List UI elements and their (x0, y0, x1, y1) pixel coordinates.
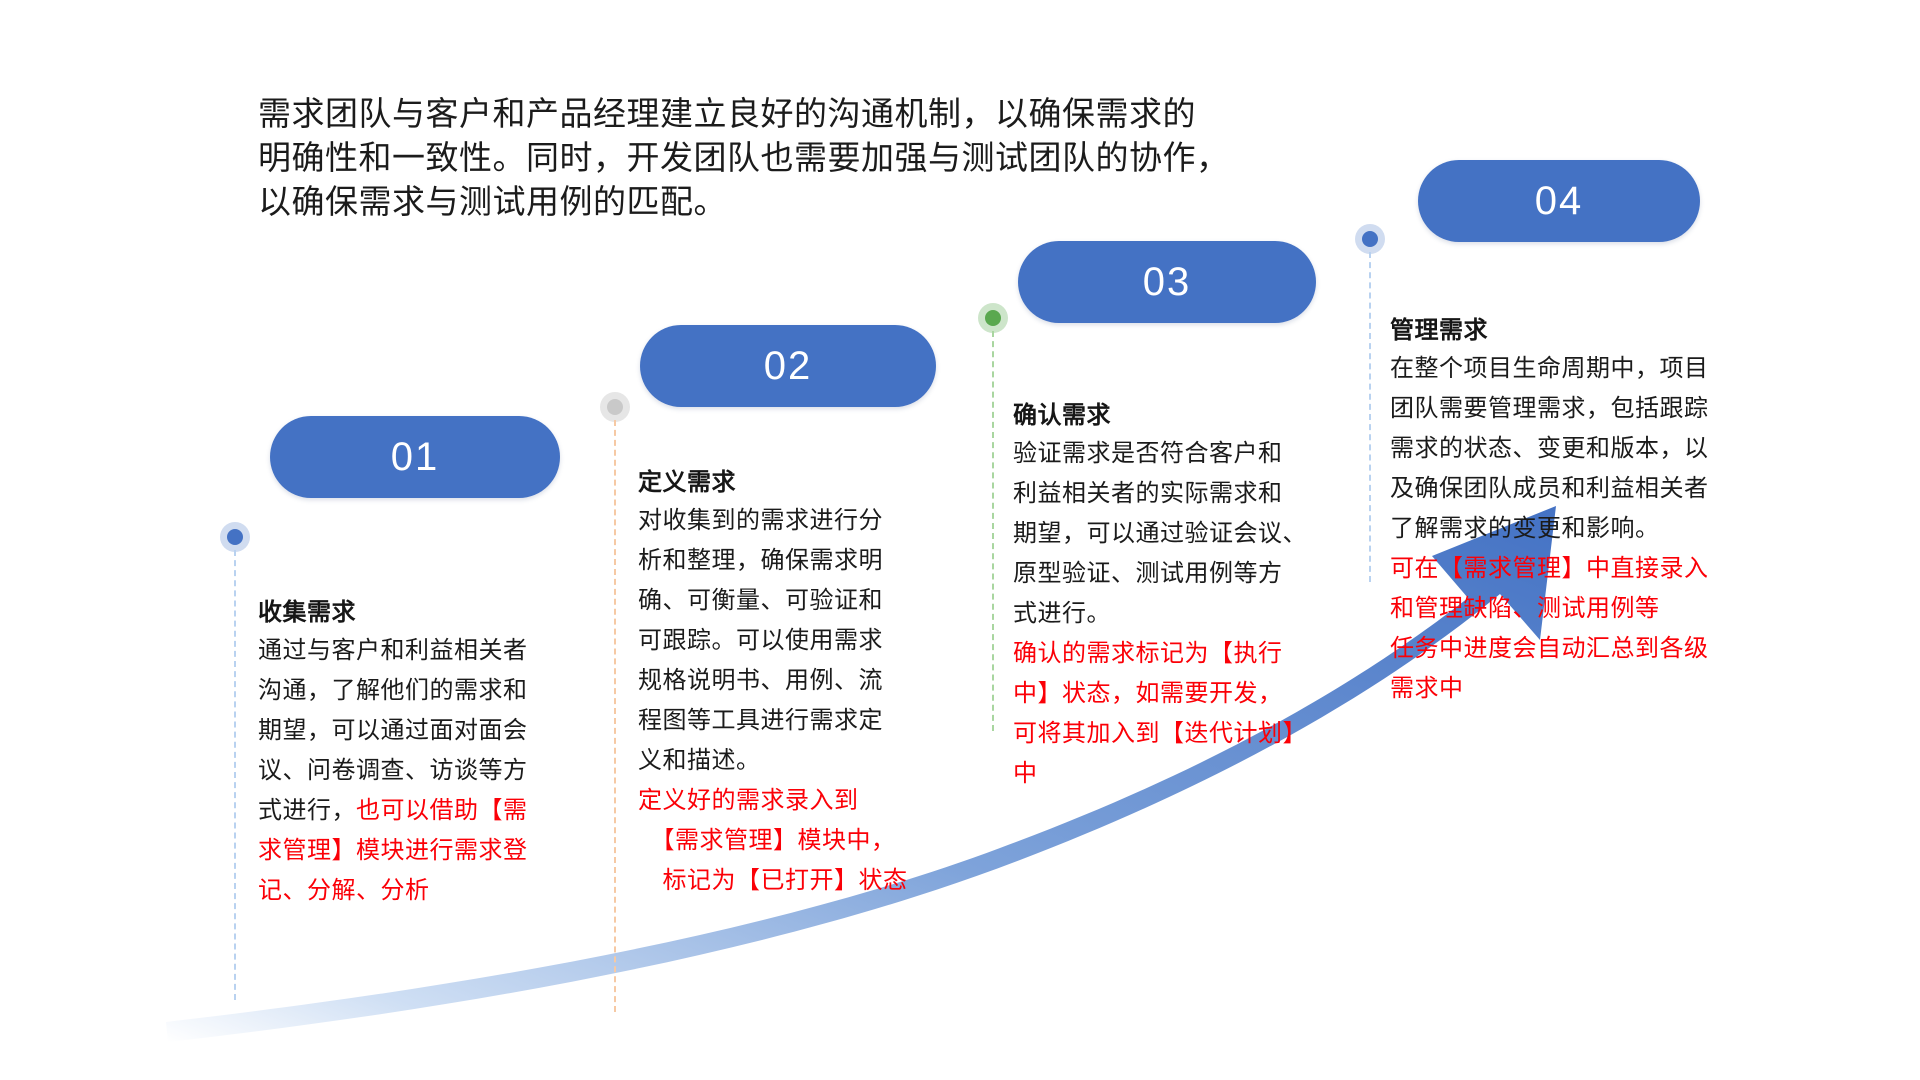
infographic-canvas: 需求团队与客户和产品经理建立良好的沟通机制，以确保需求的 明确性和一致性。同时，… (0, 0, 1920, 1080)
intro-line-3: 以确保需求与测试用例的匹配。 (258, 180, 1298, 224)
step-04-red-line: 任务中进度会自动汇总到各级 (1390, 629, 1770, 669)
step-01-body-line: 沟通，了解他们的需求和 (258, 671, 588, 711)
step-01-title: 收集需求 (258, 592, 588, 627)
step-01-red-line: 求管理】模块进行需求登 (258, 831, 588, 871)
step-01-number-badge[interactable]: 01 (270, 416, 560, 498)
step-02-dot (607, 399, 623, 415)
intro-paragraph: 需求团队与客户和产品经理建立良好的沟通机制，以确保需求的 明确性和一致性。同时，… (258, 92, 1298, 224)
step-03-number-badge[interactable]: 03 (1018, 241, 1316, 323)
step-03-text-block: 确认需求 验证需求是否符合客户和 利益相关者的实际需求和 期望，可以通过验证会议… (1013, 395, 1363, 794)
step-04-red-line: 和管理缺陷、测试用例等 (1390, 589, 1770, 629)
step-04-red-line: 需求中 (1390, 669, 1770, 709)
step-01-number: 01 (391, 435, 440, 480)
step-01-text-block: 收集需求 通过与客户和利益相关者 沟通，了解他们的需求和 期望，可以通过面对面会… (258, 592, 588, 911)
step-04-body-line: 及确保团队成员和利益相关者 (1390, 469, 1770, 509)
step-03-body-line: 期望，可以通过验证会议、 (1013, 514, 1363, 554)
step-03-body-line: 利益相关者的实际需求和 (1013, 474, 1363, 514)
step-03-number: 03 (1143, 260, 1192, 305)
step-01-body-line: 议、问卷调查、访谈等方 (258, 751, 588, 791)
step-04-body-line: 团队需要管理需求，包括跟踪 (1390, 389, 1770, 429)
step-01-body: 通过与客户和利益相关者 沟通，了解他们的需求和 期望，可以通过面对面会 议、问卷… (258, 631, 588, 911)
step-02-text-block: 定义需求 对收集到的需求进行分 析和整理，确保需求明 确、可衡量、可验证和 可跟… (638, 462, 968, 901)
step-02-number-badge[interactable]: 02 (640, 325, 936, 407)
step-01-red-line: 记、分解、分析 (258, 871, 588, 911)
step-01-connector-line (234, 550, 236, 1000)
step-01-mixed-red: 也可以借助【需 (356, 797, 528, 824)
step-03-red-line: 中】状态，如需要开发， (1013, 674, 1363, 714)
step-02-body-line: 确、可衡量、可验证和 (638, 581, 968, 621)
step-02-connector-line (614, 420, 616, 1012)
step-02-red-line: 定义好的需求录入到 (638, 781, 968, 821)
step-03-body: 验证需求是否符合客户和 利益相关者的实际需求和 期望，可以通过验证会议、 原型验… (1013, 434, 1363, 794)
step-01-mixed-black: 式进行， (258, 797, 356, 824)
step-02-red-line: 【需求管理】模块中， (638, 821, 968, 861)
step-01-dot (227, 529, 243, 545)
step-04-number-badge[interactable]: 04 (1418, 160, 1700, 242)
step-02-body-line: 义和描述。 (638, 741, 968, 781)
step-02-body: 对收集到的需求进行分 析和整理，确保需求明 确、可衡量、可验证和 可跟踪。可以使… (638, 501, 968, 901)
step-02-body-line: 析和整理，确保需求明 (638, 541, 968, 581)
step-03-red-line: 确认的需求标记为【执行 (1013, 634, 1363, 674)
step-03-body-line: 原型验证、测试用例等方 (1013, 554, 1363, 594)
step-04-number: 04 (1535, 179, 1584, 224)
step-04-body-line: 在整个项目生命周期中，项目 (1390, 349, 1770, 389)
step-03-body-line: 式进行。 (1013, 594, 1363, 634)
step-04-body: 在整个项目生命周期中，项目 团队需要管理需求，包括跟踪 需求的状态、变更和版本，… (1390, 349, 1770, 709)
step-02-body-line: 规格说明书、用例、流 (638, 661, 968, 701)
step-02-number: 02 (764, 344, 813, 389)
step-02-body-line: 对收集到的需求进行分 (638, 501, 968, 541)
step-01-body-line: 期望，可以通过面对面会 (258, 711, 588, 751)
step-04-body-line: 需求的状态、变更和版本，以 (1390, 429, 1770, 469)
intro-line-1: 需求团队与客户和产品经理建立良好的沟通机制，以确保需求的 (258, 92, 1298, 136)
step-04-title: 管理需求 (1390, 310, 1770, 345)
step-04-dot (1362, 231, 1378, 247)
step-03-body-line: 验证需求是否符合客户和 (1013, 434, 1363, 474)
step-03-red-line: 可将其加入到【迭代计划】 (1013, 714, 1363, 754)
step-03-title: 确认需求 (1013, 395, 1363, 430)
step-02-title: 定义需求 (638, 462, 968, 497)
step-01-body-line: 通过与客户和利益相关者 (258, 631, 588, 671)
step-02-body-line: 程图等工具进行需求定 (638, 701, 968, 741)
step-03-red-line: 中 (1013, 754, 1363, 794)
step-02-red-line: 标记为【已打开】状态 (638, 861, 968, 901)
step-04-connector-line (1369, 252, 1371, 582)
step-02-body-line: 可跟踪。可以使用需求 (638, 621, 968, 661)
step-04-red-line: 可在【需求管理】中直接录入 (1390, 549, 1770, 589)
step-01-mixed-line: 式进行，也可以借助【需 (258, 791, 588, 831)
step-04-text-block: 管理需求 在整个项目生命周期中，项目 团队需要管理需求，包括跟踪 需求的状态、变… (1390, 310, 1770, 709)
intro-line-2: 明确性和一致性。同时，开发团队也需要加强与测试团队的协作， (258, 136, 1298, 180)
step-04-body-line: 了解需求的变更和影响。 (1390, 509, 1770, 549)
step-03-dot (985, 310, 1001, 326)
step-03-connector-line (992, 331, 994, 731)
